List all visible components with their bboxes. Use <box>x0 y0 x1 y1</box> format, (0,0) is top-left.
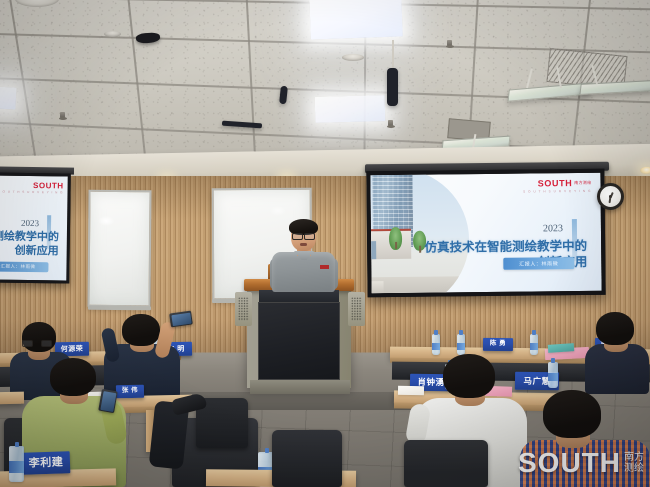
watermark-brand-cn: 南方 测绘 <box>624 452 644 475</box>
slide-year: 2023 <box>21 218 39 228</box>
water-bottle <box>9 446 24 482</box>
placard-chen-yong: 陈 勇 <box>483 338 513 351</box>
presenter-mouth <box>300 243 307 246</box>
watermark: SOUTH 南方 测绘 <box>518 449 644 477</box>
podium-front-panel <box>258 302 340 380</box>
bottle-label <box>9 461 24 473</box>
water-bottle <box>548 362 558 388</box>
water-bottle <box>457 334 465 355</box>
audience-person-head <box>22 322 56 352</box>
whiteboard-tray <box>88 306 151 311</box>
whiteboard-glare <box>270 206 286 216</box>
photo-scene: SOUTH S O U T H S U R V E Y I N G 2023 测… <box>0 0 650 487</box>
ceiling <box>0 0 650 162</box>
downlight-icon <box>640 167 650 174</box>
sprinkler-head-icon <box>60 112 65 119</box>
ceiling-panel-light <box>315 95 386 123</box>
slide-title-line1: 测绘教学中的 <box>0 228 59 244</box>
desk-far-right <box>0 392 24 405</box>
presenter-shirt-logo <box>320 265 329 269</box>
bottle-label <box>548 373 558 381</box>
presentation-slide: SOUTH 南方测绘 S O U T H S U R V E Y I N G 2… <box>370 173 601 293</box>
chair-back <box>404 440 488 487</box>
secondary-display: SOUTH S O U T H S U R V E Y I N G 2023 测… <box>0 172 71 283</box>
ceiling-panel-light <box>309 0 403 40</box>
south-logo-text: SOUTH <box>538 179 573 188</box>
watermark-cn-line1: 南方 <box>624 452 644 464</box>
chair-back <box>272 430 342 487</box>
south-logo: SOUTH 南方测绘 <box>538 179 592 189</box>
slide-image-tree <box>389 227 402 250</box>
slide-year: 2023 <box>543 223 563 234</box>
ceiling-panel-light <box>0 84 17 109</box>
audience-person-head <box>50 358 96 396</box>
audience-person-head <box>443 354 495 398</box>
notepad <box>398 386 424 395</box>
watermark-brand-text: SOUTH <box>518 449 621 477</box>
south-logo-subtitle: S O U T H S U R V E Y I N G <box>0 190 64 195</box>
placard-li-lijian: 李利建 <box>22 451 71 475</box>
podium-base <box>250 380 350 394</box>
placard-zhang-wei: 张 伟 <box>116 385 144 399</box>
slide-presenter-badge: 汇报人：林雨微 <box>0 261 49 272</box>
whiteboard-left <box>87 190 151 308</box>
whiteboard-glare <box>98 216 114 226</box>
slide-image-entrance <box>370 241 376 259</box>
glasses-icon <box>292 233 315 238</box>
slide-building-image <box>370 173 469 293</box>
south-logo-cn: 南方测绘 <box>574 181 591 185</box>
slide-title-line1: 仿真技术在智能测绘教学中的 <box>417 238 587 256</box>
slide-presenter-badge: 汇报人：林雨微 <box>503 257 574 270</box>
water-bottle <box>530 334 538 355</box>
sprinkler-head-icon <box>447 40 452 47</box>
bottle-label <box>457 343 465 350</box>
bottle-label <box>432 343 440 350</box>
phone-screen <box>171 312 191 326</box>
phone-screen <box>100 391 116 412</box>
wall-clock <box>597 183 624 210</box>
ceiling-mount-plate <box>104 31 121 37</box>
secondary-slide: SOUTH S O U T H S U R V E Y I N G 2023 测… <box>0 174 71 280</box>
slide-image-plinth <box>370 281 383 293</box>
podium-speaker-left <box>235 292 252 326</box>
glasses-icon <box>22 340 52 345</box>
audience-photographer-head <box>122 314 160 346</box>
audience-person-head <box>596 312 634 345</box>
podium-speaker-right <box>348 292 365 326</box>
south-logo-subtitle: S O U T H S U R V E Y I N G <box>523 189 592 194</box>
south-logo-text: SOUTH <box>33 181 64 190</box>
ceiling-diffuser <box>342 54 364 61</box>
slide-title-line2: 创新应用 <box>0 243 59 259</box>
watermark-cn-line2: 测绘 <box>624 463 644 475</box>
projector-screen: SOUTH 南方测绘 S O U T H S U R V E Y I N G 2… <box>366 169 605 297</box>
slide-title: 测绘教学中的 创新应用 <box>0 228 59 259</box>
clock-center-hub <box>609 195 612 198</box>
bottle-label <box>530 343 538 350</box>
water-bottle <box>432 334 440 355</box>
projector-mount <box>387 68 398 106</box>
slide-image-ground <box>370 276 469 293</box>
audience-person-head <box>543 390 601 438</box>
sprinkler-head-icon <box>388 120 393 127</box>
